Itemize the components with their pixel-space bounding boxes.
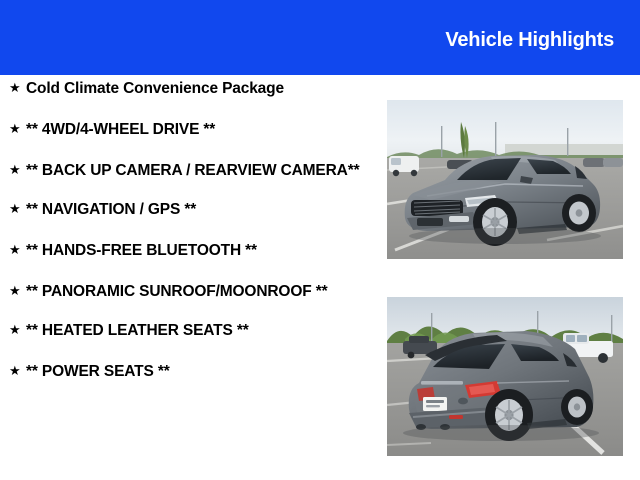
highlight-label: ** 4WD/4-WHEEL DRIVE ** (26, 119, 372, 140)
list-item: ★ ** BACK UP CAMERA / REARVIEW CAMERA** (0, 160, 378, 182)
highlight-label: ** NAVIGATION / GPS ** (26, 199, 372, 220)
highlight-label: ** HEATED LEATHER SEATS ** (26, 320, 372, 341)
star-bullet-icon: ★ (9, 199, 26, 219)
star-bullet-icon: ★ (9, 119, 26, 139)
list-item: ★ ** PANORAMIC SUNROOF/MOONROOF ** (0, 281, 378, 303)
vehicle-photo-rear[interactable] (387, 297, 623, 456)
vehicle-photo-rear-graphic (387, 297, 623, 456)
star-bullet-icon: ★ (9, 320, 26, 340)
vehicle-photo-front-graphic (387, 100, 623, 259)
star-bullet-icon: ★ (9, 78, 26, 98)
list-item: ★ ** 4WD/4-WHEEL DRIVE ** (0, 119, 378, 141)
star-bullet-icon: ★ (9, 281, 26, 301)
list-item: ★ ** HANDS-FREE BLUETOOTH ** (0, 240, 378, 262)
star-bullet-icon: ★ (9, 160, 26, 180)
page-title: Vehicle Highlights (445, 29, 614, 52)
highlight-label: ** HANDS-FREE BLUETOOTH ** (26, 240, 372, 261)
highlight-label: ** BACK UP CAMERA / REARVIEW CAMERA** (26, 160, 372, 181)
header-bar: Vehicle Highlights (0, 0, 640, 75)
highlight-label: Cold Climate Convenience Package (26, 78, 372, 99)
star-bullet-icon: ★ (9, 361, 26, 381)
list-item: ★ Cold Climate Convenience Package (0, 78, 378, 100)
vehicle-highlights-list: ★ Cold Climate Convenience Package ★ ** … (0, 78, 378, 480)
list-item: ★ ** HEATED LEATHER SEATS ** (0, 320, 378, 342)
list-item: ★ ** POWER SEATS ** (0, 361, 378, 383)
highlight-label: ** PANORAMIC SUNROOF/MOONROOF ** (26, 281, 372, 302)
highlight-label: ** POWER SEATS ** (26, 361, 372, 382)
list-item: ★ ** NAVIGATION / GPS ** (0, 199, 378, 221)
star-bullet-icon: ★ (9, 240, 26, 260)
vehicle-photo-front[interactable] (387, 100, 623, 259)
